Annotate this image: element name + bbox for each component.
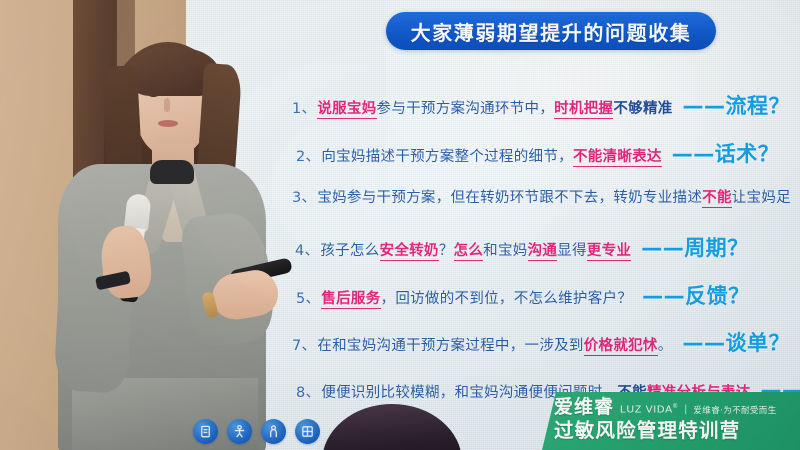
text-segment: 不能 [702, 191, 732, 208]
text-segment: 和宝妈 [483, 244, 527, 259]
text-segment: ，回访做的不到位，不怎么维护客户？ [381, 292, 633, 307]
brand-name-cn: 爱维睿 [554, 398, 614, 417]
brand-primary-row: 爱维睿 LUZ VIDA® | 爱维睿·为不耐受而生 [554, 398, 792, 417]
slide-line-tag: ——话术？ [672, 144, 780, 165]
mouth [158, 120, 178, 127]
collar [150, 160, 194, 184]
slide-line-tag: ——反馈？ [642, 286, 750, 307]
text-segment: 安全转奶 [380, 244, 439, 261]
slide-line: 7、 在和宝妈沟通干预方案过程中，一涉及到 价格就犯怵 。 ——谈单？ [292, 333, 790, 356]
text-segment: 时机把握 [554, 102, 613, 119]
text-segment: 显得 [557, 244, 587, 259]
presenter [18, 36, 318, 450]
person-icon [261, 419, 286, 444]
document-icon [193, 419, 218, 444]
text-segment: 向宝妈描述干预方案整个过程的细节， [321, 150, 573, 165]
text-segment: 不够精准 [613, 102, 672, 117]
page-title: 大家薄弱期望提升的问题收集 [411, 17, 692, 46]
slide-line: 4、 孩子怎么 安全转奶 ？ 怎么 和宝妈 沟通 显得 更专业 ——周期？ [295, 238, 749, 261]
slide-line-tag: ——周期？ [641, 238, 749, 259]
text-segment: 孩子怎么 [320, 244, 379, 259]
slide-line-tag: ——流程？ [683, 96, 791, 117]
registered-mark: ® [673, 404, 678, 410]
text-segment: 不能清晰表达 [573, 150, 662, 167]
slide-icon-row [193, 419, 320, 444]
text-segment: 。 [658, 339, 673, 354]
slide-line: 3、 宝妈参与干预方案，但在转奶环节跟不下去，转奶专业描述 不能 让宝妈足 [292, 191, 791, 208]
text-segment: 在和宝妈沟通干预方案过程中，一涉及到 [317, 339, 583, 354]
text-segment: 售后服务 [321, 292, 380, 309]
slide-line: 5、 售后服务 ，回访做的不到位，不怎么维护客户？ ——反馈？ [296, 286, 750, 309]
slide-line-tag: ——谈单？ [683, 333, 791, 354]
text-segment: 怎么 [454, 244, 484, 261]
slide-title-banner: 大家薄弱期望提升的问题收集 [386, 12, 716, 50]
text-segment: 价格就犯怵 [584, 339, 658, 356]
brand-slogan: 爱维睿·为不耐受而生 [693, 407, 776, 418]
person-stretch-icon [227, 419, 252, 444]
slide-line: 1、 说服宝妈 参与干预方案沟通环节中， 时机把握 不够精准 ——流程？ [292, 96, 790, 119]
photo-stage: 大家薄弱期望提升的问题收集 1、 说服宝妈 参与干预方案沟通环节中， 时机把握 … [0, 0, 800, 450]
text-segment: 宝妈参与干预方案，但在转奶环节跟不下去，转奶专业描述 [317, 191, 702, 206]
brand-program-title: 过敏风险管理特训营 [554, 420, 792, 442]
slide-line: 2、 向宝妈描述干预方案整个过程的细节， 不能清晰表达 ——话术？ [296, 144, 779, 167]
brand-name-latin: LUZ VIDA® [620, 404, 678, 417]
text-segment: 沟通 [528, 244, 558, 261]
text-segment: 参与干预方案沟通环节中， [377, 102, 555, 117]
text-segment: 说服宝妈 [317, 102, 376, 119]
brand-divider: | [684, 404, 687, 417]
text-segment: 更专业 [587, 244, 631, 261]
nose [164, 98, 170, 112]
text-segment: 让宝妈足 [732, 191, 791, 206]
text-segment: ？ [439, 244, 454, 259]
brand-banner: 爱维睿 LUZ VIDA® | 爱维睿·为不耐受而生 过敏风险管理特训营 [542, 392, 800, 450]
